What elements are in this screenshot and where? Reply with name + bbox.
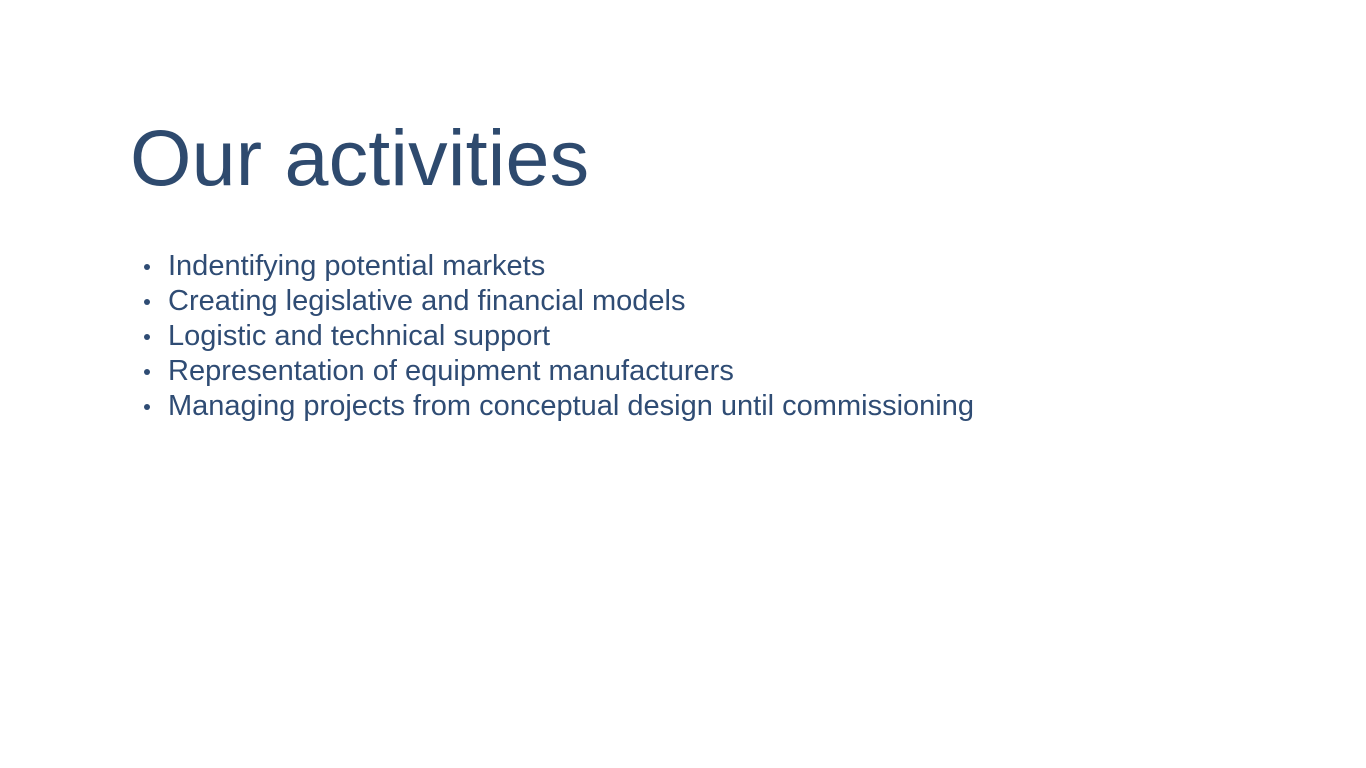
list-item-label: Representation of equipment manufacturer… (168, 355, 734, 387)
page-title: Our activities (130, 118, 1230, 197)
list-item-label: Indentifying potential markets (168, 250, 545, 282)
list-item: Indentifying potential markets (132, 249, 1252, 284)
list-item-label: Managing projects from conceptual design… (168, 390, 974, 422)
bullet-dot-icon (144, 264, 150, 270)
list-item-label: Logistic and technical support (168, 320, 550, 352)
list-item-label: Creating legislative and financial model… (168, 285, 685, 317)
list-item: Logistic and technical support (132, 319, 1252, 354)
list-item: Representation of equipment manufacturer… (132, 354, 1252, 389)
bullet-dot-icon (144, 404, 150, 410)
activities-bullet-list: Indentifying potential markets Creating … (132, 249, 1252, 424)
bullet-dot-icon (144, 299, 150, 305)
bullet-dot-icon (144, 334, 150, 340)
bullet-dot-icon (144, 369, 150, 375)
slide-canvas: Our activities Indentifying potential ma… (0, 0, 1366, 768)
list-item: Managing projects from conceptual design… (132, 389, 1252, 424)
list-item: Creating legislative and financial model… (132, 284, 1252, 319)
